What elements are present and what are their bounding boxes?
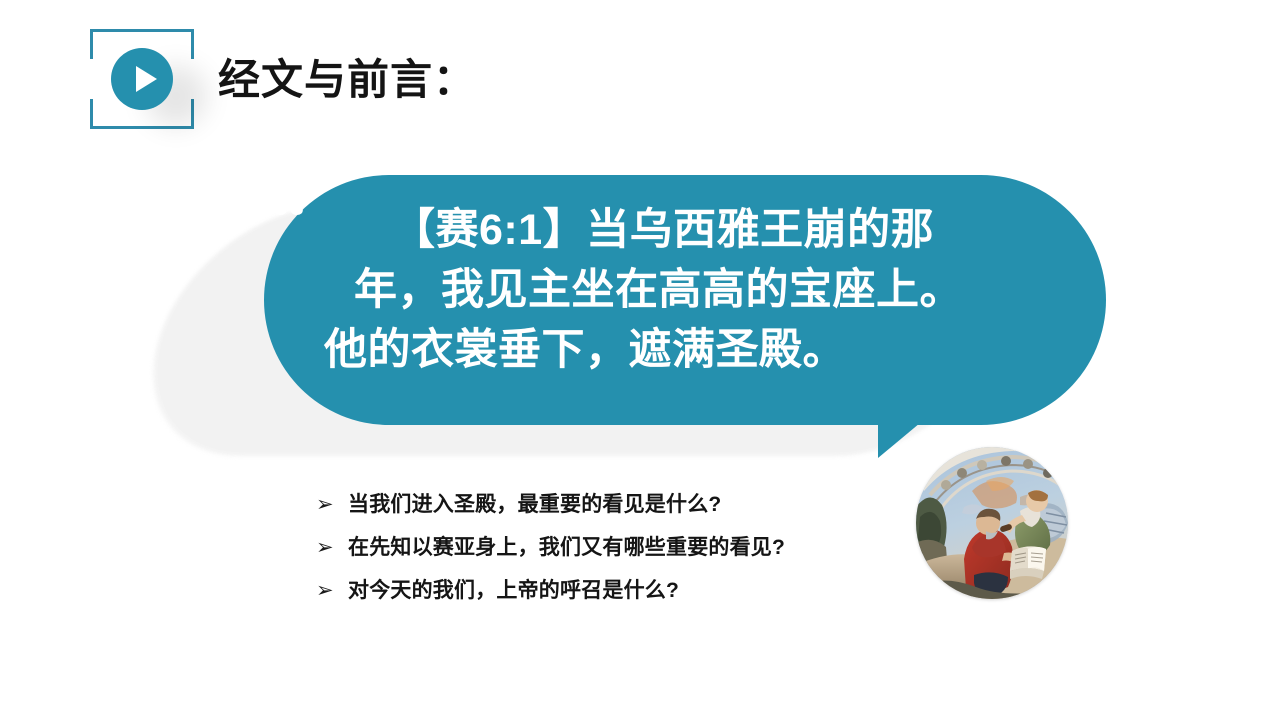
quote-line-1: 【赛6:1】当乌西雅王崩的那 <box>324 201 1084 261</box>
quote-mark-icon: “ <box>270 181 307 255</box>
page-title: 经文与前言： <box>218 46 476 107</box>
painting-artwork <box>916 447 1068 599</box>
slide-canvas: 经文与前言： “ 【赛6:1】当乌西雅王崩的那 年，我见主坐在高高的宝座上。 他… <box>0 0 1280 720</box>
play-icon[interactable] <box>111 48 173 110</box>
arrow-bullet-icon: ➢ <box>316 494 348 515</box>
frame-corner-top-right <box>160 29 194 59</box>
frame-corner-top-left <box>90 29 124 59</box>
question-text: 当我们进入圣殿，最重要的看见是什么? <box>348 488 721 518</box>
question-text: 在先知以赛亚身上，我们又有哪些重要的看见? <box>348 531 785 561</box>
list-item[interactable]: ➢ 在先知以赛亚身上，我们又有哪些重要的看见? <box>316 531 936 574</box>
list-item[interactable]: ➢ 当我们进入圣殿，最重要的看见是什么? <box>316 488 936 531</box>
play-badge[interactable] <box>90 29 194 129</box>
frame-corner-bottom-left <box>90 99 124 129</box>
arrow-bullet-icon: ➢ <box>316 537 348 558</box>
question-list: ➢ 当我们进入圣殿，最重要的看见是什么? ➢ 在先知以赛亚身上，我们又有哪些重要… <box>316 488 936 617</box>
arrow-bullet-icon: ➢ <box>316 580 348 601</box>
quote-line-2: 年，我见主坐在高高的宝座上。 <box>324 261 1084 321</box>
slide-header: 经文与前言： <box>0 0 1280 150</box>
quote-line-3: 他的衣裳垂下，遮满圣殿。 <box>324 321 1084 381</box>
quote-bubble: “ 【赛6:1】当乌西雅王崩的那 年，我见主坐在高高的宝座上。 他的衣裳垂下，遮… <box>264 175 1106 425</box>
quote-bubble-tail <box>878 418 926 458</box>
quote-text: 【赛6:1】当乌西雅王崩的那 年，我见主坐在高高的宝座上。 他的衣裳垂下，遮满圣… <box>324 201 1084 380</box>
question-text: 对今天的我们，上帝的呼召是什么? <box>348 574 679 604</box>
play-triangle-glyph <box>136 66 157 92</box>
prophet-isaiah-painting <box>916 447 1068 599</box>
list-item[interactable]: ➢ 对今天的我们，上帝的呼召是什么? <box>316 574 936 617</box>
frame-corner-bottom-right <box>160 99 194 129</box>
